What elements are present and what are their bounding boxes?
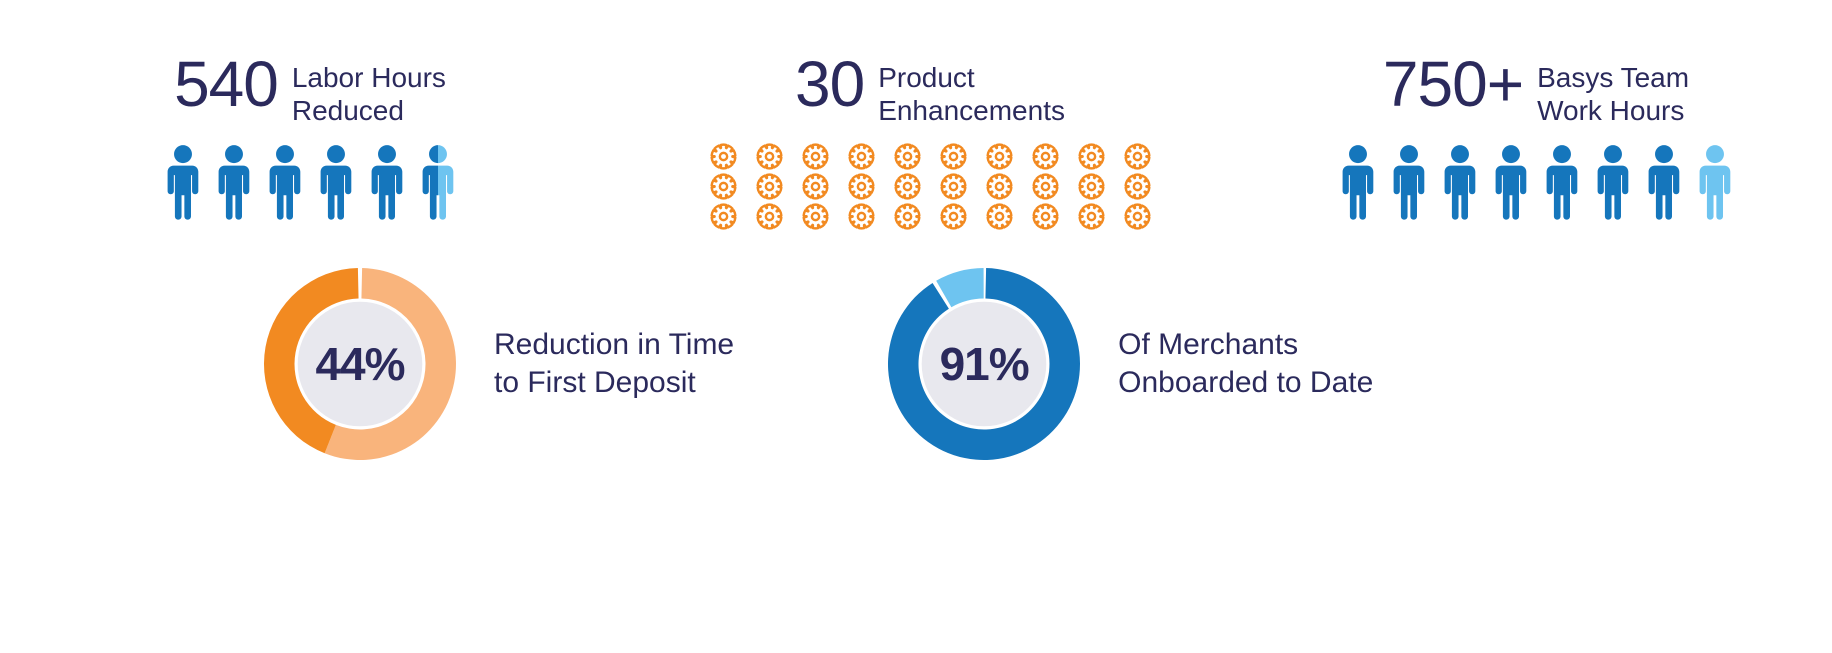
gear-icon (848, 203, 875, 230)
person-icon (366, 143, 408, 221)
gear-icon (940, 173, 967, 200)
top-stats-row: 540 Labor Hours Reduced 30 Product Enhan… (0, 0, 1832, 200)
gear-icon (710, 143, 737, 170)
gear-icon (1032, 143, 1059, 170)
stat-block-labor-hours: 540 Labor Hours Reduced (0, 55, 620, 221)
person-icon (1490, 143, 1532, 221)
stat-block-basys-team-work-hours: 750+ Basys Team Work Hours (1240, 55, 1832, 221)
gear-icon (894, 203, 921, 230)
gear-icon (756, 143, 783, 170)
gear-icon (848, 173, 875, 200)
stat-label: Product Enhancements (878, 55, 1065, 127)
donut-caption: Of Merchants Onboarded to Date (1118, 326, 1373, 403)
donut-value-label: 91% (886, 266, 1082, 462)
person-icon (1541, 143, 1583, 221)
gear-icon (986, 143, 1013, 170)
gear-icon (1124, 173, 1151, 200)
gear-icon (1078, 203, 1105, 230)
person-icon (264, 143, 306, 221)
person-icon (1592, 143, 1634, 221)
person-icon (1388, 143, 1430, 221)
person-icon (1337, 143, 1379, 221)
gear-icon (756, 173, 783, 200)
stat-number: 30 (795, 55, 864, 114)
person-icon (1694, 143, 1736, 221)
person-icon (417, 143, 459, 221)
gear-icon (894, 173, 921, 200)
gear-icon (940, 143, 967, 170)
stat-label: Labor Hours Reduced (292, 55, 446, 127)
gear-icon (940, 203, 967, 230)
gear-icon-grid (700, 141, 1160, 231)
donut-chart-44: 44% (262, 266, 458, 462)
gear-icon (894, 143, 921, 170)
donut-caption: Reduction in Time to First Deposit (494, 326, 734, 403)
gear-icon (1078, 143, 1105, 170)
gear-icon (986, 173, 1013, 200)
stat-head: 30 Product Enhancements (795, 55, 1065, 127)
stat-label: Basys Team Work Hours (1537, 55, 1689, 127)
person-icon (315, 143, 357, 221)
donut-block-merchants-onboarded: 91% Of Merchants Onboarded to Date (886, 266, 1373, 462)
donut-chart-91: 91% (886, 266, 1082, 462)
stat-block-product-enhancements: 30 Product Enhancements (620, 55, 1240, 231)
gear-icon (1124, 203, 1151, 230)
gear-icon (710, 203, 737, 230)
person-icon (1439, 143, 1481, 221)
donut-block-time-to-first-deposit: 44% Reduction in Time to First Deposit (262, 266, 734, 462)
stat-number: 750+ (1383, 55, 1523, 114)
gear-icon (1032, 173, 1059, 200)
gear-icon (986, 203, 1013, 230)
donut-value-label: 44% (262, 266, 458, 462)
gear-icon (1078, 173, 1105, 200)
stat-number: 540 (174, 55, 278, 114)
gear-icon (802, 173, 829, 200)
people-icon-row-basys-team (1337, 143, 1736, 221)
person-icon (1643, 143, 1685, 221)
stat-head: 540 Labor Hours Reduced (174, 55, 446, 127)
person-icon (162, 143, 204, 221)
gear-icon (756, 203, 783, 230)
person-icon (213, 143, 255, 221)
people-icon-row-labor-hours (162, 143, 459, 221)
gear-icon (848, 143, 875, 170)
donut-charts-row: 44% Reduction in Time to First Deposit 9… (0, 266, 1832, 462)
gear-icon (802, 203, 829, 230)
gear-icon (1124, 143, 1151, 170)
gear-icon (1032, 203, 1059, 230)
gear-icon (710, 173, 737, 200)
gear-icon (802, 143, 829, 170)
stat-head: 750+ Basys Team Work Hours (1383, 55, 1689, 127)
